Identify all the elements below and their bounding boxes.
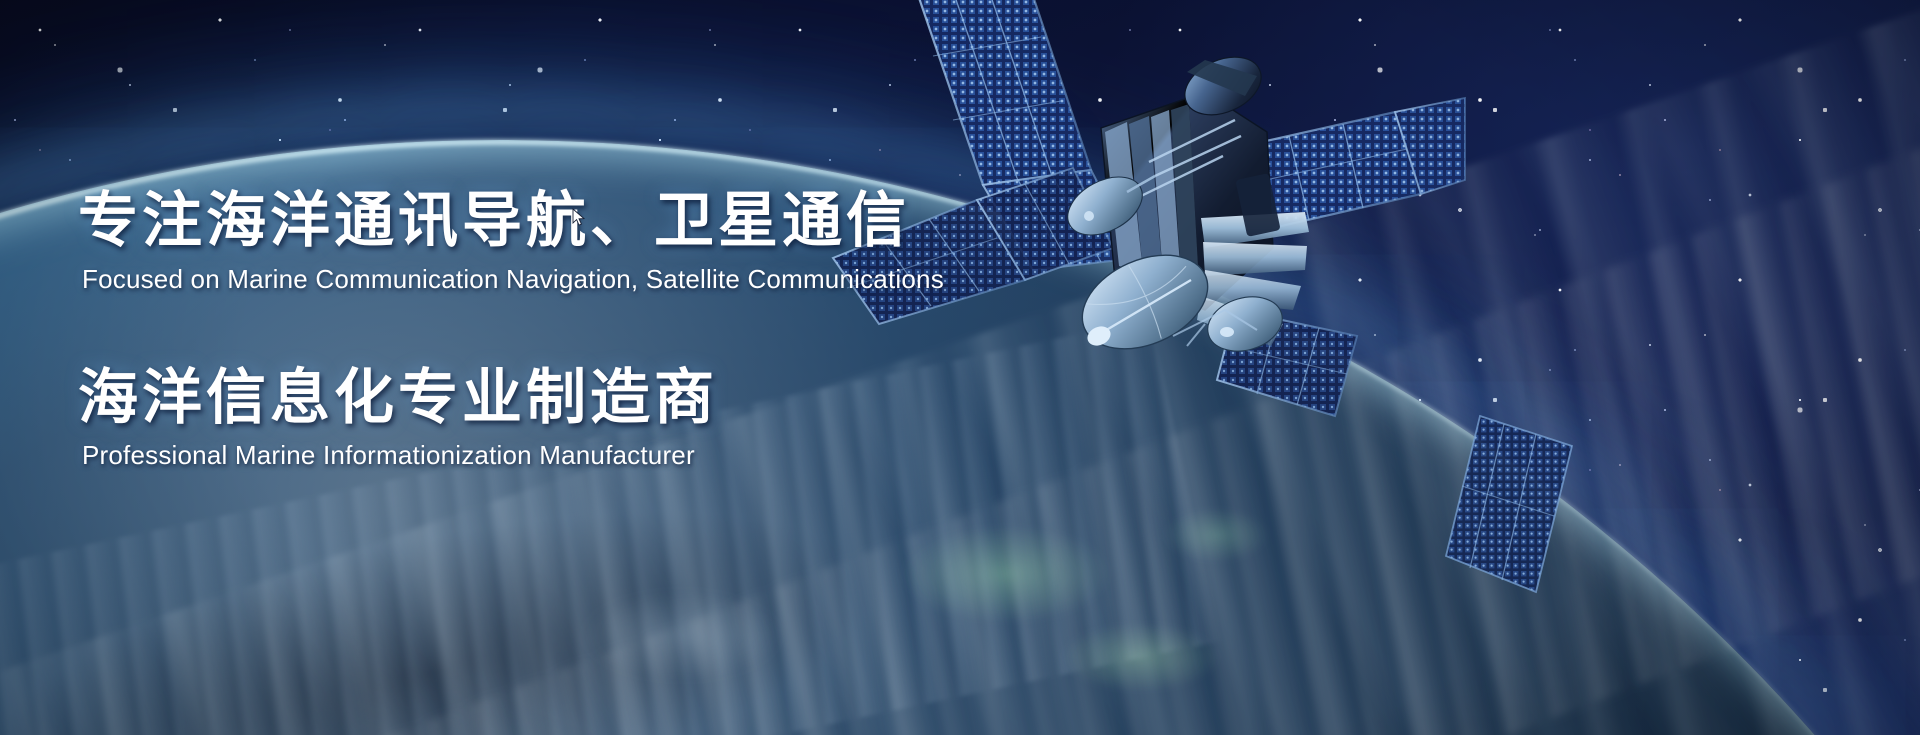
earth-landmass-grey xyxy=(520,520,880,730)
copy-block-1: 专注海洋通讯导航、卫星通信 Focused on Marine Communic… xyxy=(78,186,998,297)
hero-banner: 专注海洋通讯导航、卫星通信 Focused on Marine Communic… xyxy=(0,0,1920,735)
earth-landmass-green xyxy=(880,470,1300,730)
banner-copy: 专注海洋通讯导航、卫星通信 Focused on Marine Communic… xyxy=(78,186,998,473)
subheadline-primary: Focused on Marine Communication Navigati… xyxy=(82,263,998,297)
headline-primary: 专注海洋通讯导航、卫星通信 xyxy=(78,186,998,257)
satellite-panel-distant xyxy=(1440,410,1650,610)
solar-panel-upper-left xyxy=(917,0,1091,185)
copy-block-2: 海洋信息化专业制造商 Professional Marine Informati… xyxy=(78,363,998,474)
headline-secondary: 海洋信息化专业制造商 xyxy=(78,363,998,434)
subheadline-secondary: Professional Marine Informationization M… xyxy=(82,439,998,473)
